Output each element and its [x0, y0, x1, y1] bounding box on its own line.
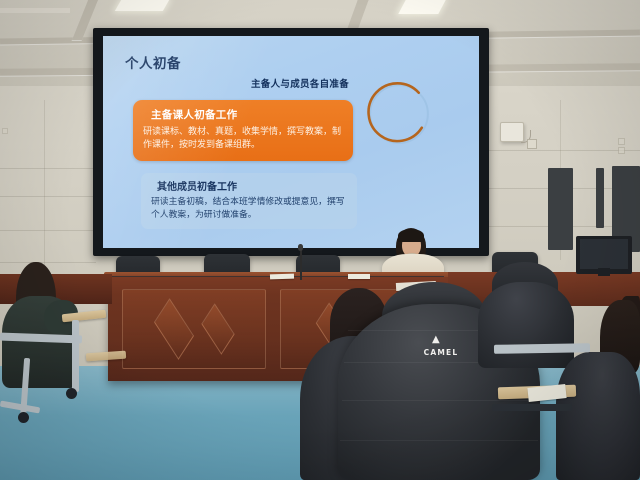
wall-seam: [0, 230, 96, 231]
desk-microphone-stem: [300, 248, 302, 280]
chair-frame: [72, 320, 79, 392]
camel-logo-icon: ▲: [432, 335, 440, 345]
chair-frame: [492, 404, 572, 411]
wall-mounted-display[interactable]: 个人初备 主备人与成员各自准备 主备课人初备工作 研读课标、教材、真题，收集学情…: [93, 28, 489, 256]
ceiling-panel: [0, 8, 70, 13]
camel-brand-label: CAMEL: [410, 348, 472, 357]
slide-orange-callout: 主备课人初备工作 研读课标、教材、真题，收集学情，撰写教案，制作课件，按时发到备…: [133, 100, 353, 161]
orange-box-heading: 主备课人初备工作: [151, 107, 343, 122]
chair-frame: [494, 343, 590, 354]
presentation-slide: 个人初备 主备人与成员各自准备 主备课人初备工作 研读课标、教材、真题，收集学情…: [103, 36, 479, 248]
monitor-screen: [580, 239, 628, 269]
wall-panel: [548, 168, 573, 250]
blue-box-heading: 其他成员初备工作: [157, 178, 347, 193]
audience-coat: [556, 352, 640, 480]
podium-panel-inlay: [122, 289, 266, 369]
progress-ring-icon: [361, 76, 437, 152]
documents-on-desk: [270, 274, 294, 280]
wall-outlet: [2, 128, 8, 134]
wall-outlet: [618, 138, 625, 145]
ceiling-light: [115, 0, 169, 11]
wall-outlet: [618, 147, 625, 154]
slide-blue-callout: 其他成员初备工作 研读主备初稿，结合本班学情修改或提意见，撰写个人教案，为研讨做…: [141, 173, 357, 229]
wall-panel: [596, 168, 604, 228]
documents-on-desk: [348, 274, 370, 279]
wall-seam: [44, 100, 45, 280]
wall-seam: [0, 196, 96, 197]
ceiling-light: [398, 0, 445, 14]
audience-coat: [478, 282, 574, 368]
wall-seam: [0, 262, 96, 263]
wall-seam: [0, 168, 96, 169]
orange-box-body: 研读课标、教材、真题，收集学情，撰写教案，制作课件，按时发到备课组群。: [143, 126, 343, 152]
monitor-stand: [598, 268, 610, 276]
slide-subtitle: 主备人与成员各自准备: [251, 76, 349, 90]
presenter-hair-top: [398, 229, 424, 242]
classroom-photo-scene: 个人初备 主备人与成员各自准备 主备课人初备工作 研读课标、教材、真题，收集学情…: [0, 0, 640, 480]
blue-box-body: 研读主备初稿，结合本班学情修改或提意见，撰写个人教案，为研讨做准备。: [151, 196, 347, 222]
chair-wheel: [18, 412, 29, 423]
slide-title: 个人初备: [125, 52, 181, 72]
wall-outlet: [527, 139, 537, 149]
chair-wheel: [66, 388, 77, 399]
desk-microphone-head: [298, 244, 303, 251]
